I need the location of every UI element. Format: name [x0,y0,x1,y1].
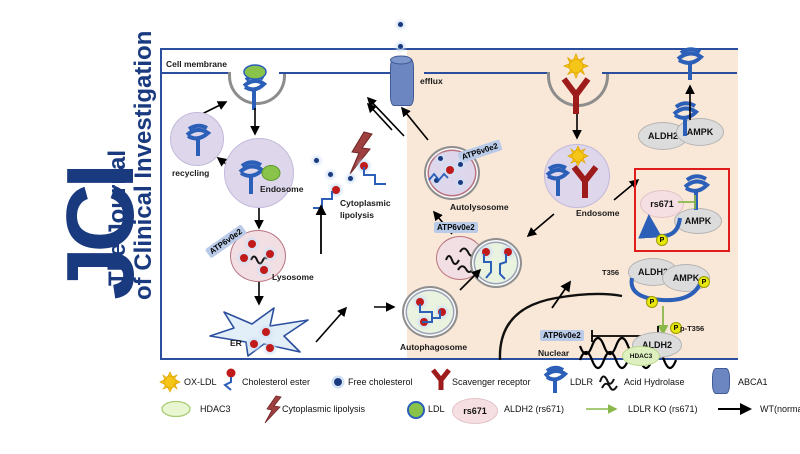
cholesterol-ester-dot [248,240,256,248]
arrow-lipolysis-upward [314,202,328,258]
arrow-scavenger-to-endosome [570,114,584,144]
phosphate-ampk-icon: P [698,276,710,288]
cytoplasmic-lipolysis-label-2: lipolysis [340,210,374,220]
cell-membrane-label: Cell membrane [166,59,227,69]
free-cholesterol-dot [314,158,319,163]
figure-root: JCI The Journal of Clinical Investigatio… [0,0,800,454]
recycling-label: recycling [172,168,209,178]
ldlr-membrane-right-icon [674,48,706,82]
free-cholesterol-dot [458,162,463,167]
cholesterol-tail-autolysosome-icon [428,170,450,184]
cholesterol-ester-dot [266,344,274,352]
cholesterol-ester-dot [262,328,270,336]
lipolysis-bolt-icon [264,396,282,424]
jci-title-line1: The Journal [104,150,132,286]
atp6v0e2-nuclear-label: ATP6v0e2 [540,330,584,341]
cholesterol-ester-dot [266,250,274,258]
legend-label-abca1: ABCA1 [738,377,768,387]
arrow-autophagosome-to-fusion [458,266,484,294]
cholesterol-ester-icon [222,368,240,394]
free-cholesterol-dot [328,172,333,177]
green-arrow-icon [586,404,624,414]
er-organelle [204,306,314,358]
abca1-icon [712,368,730,394]
arrow-er-to-cytoplasm [314,304,354,346]
arrow-autolysosome-to-abca1 [394,104,440,144]
efflux-label: efflux [420,76,443,86]
legend-label-scavenger-receptor: Scavenger receptor [452,377,531,387]
nuclear-label: Nuclear [538,348,569,358]
arrow-aldh2-to-membrane-ldlr [683,82,697,122]
cytoplasmic-lipolysis-label-1: Cytoplasmic [340,198,391,208]
arrow-cytoplasm-to-abca1 [348,100,396,134]
cholesterol-ester-tail-icon [362,166,388,190]
legend-label-ldlr: LDLR [570,377,593,387]
autophagosome-label: Autophagosome [400,342,467,352]
abca1-top-ellipse [390,55,412,65]
black-arrow-icon [718,404,758,414]
legend-label-acid-hydrolase: Acid Hydrolase [624,377,685,387]
cholesterol-tail-fused-icon [478,254,518,282]
cell-membrane-line-mid [279,72,401,74]
legend-label-aldh2-rs671: ALDH2 (rs671) [504,404,564,414]
free-cholesterol-dot [438,156,443,161]
legend-label-cytoplasmic-lipolysis: Cytoplasmic lipolysis [282,404,365,414]
jci-logo: JCI The Journal of Clinical Investigatio… [0,0,160,454]
cell-membrane-line-mid2 [424,72,549,74]
p-t356-label: p-T356 [680,324,704,333]
legend-label-oxldl: OX-LDL [184,377,217,387]
er-label: ER [230,338,242,348]
atp6v0e2-mid-label: ATP6v0e2 [434,222,478,233]
endosome-left-label: Endosome [260,184,303,194]
ldl-circle-icon [406,400,426,420]
cholesterol-ester-dot [260,266,268,274]
arrow-membrane-to-endosome [248,108,262,140]
oxldl-sun-endosome-icon [568,146,588,166]
ldlr-endosome-right-icon [544,164,572,198]
legend-label-ldlr-ko: LDLR KO (rs671) [628,404,698,414]
t356-label: T356 [602,268,619,277]
ldl-particle-left-icon [242,64,268,80]
arrow-nucleus-to-vesicle [548,278,576,312]
rs671-circle-icon: rs671 [452,398,498,424]
ldlr-icon [542,367,568,395]
scavenger-receptor-endosome-icon [570,162,600,200]
hdac3-ellipse-icon [160,400,192,418]
legend-label-free-cholesterol: Free cholesterol [348,377,413,387]
abca1-transporter [390,58,414,106]
acid-hydrolase-icon [598,370,622,390]
legend-label-cholesterol-ester: Cholesterol ester [242,377,310,387]
diagram-panel: Cell membrane recycling [160,48,738,360]
cholesterol-tail-autophagosome-icon [412,300,452,330]
legend-label-ldl: LDL [428,404,445,414]
arrow-autophagosome-to-efflux [374,300,400,314]
scavenger-receptor-membrane-icon [560,74,592,116]
autolysosome-label: Autolysosome [450,202,509,212]
oxldl-sun-icon [160,372,180,392]
ldl-endosome-left-icon [260,164,282,182]
free-cholesterol-efflux-dot [398,22,403,27]
endosome-right-label: Endosome [576,208,619,218]
cholesterol-ester-dot [250,340,258,348]
oxldl-sun-membrane-icon [564,54,588,78]
legend-label-wt-normal: WT(normal) [760,404,800,414]
lysosome-label: Lysosome [272,272,314,282]
cell-membrane-line-right [602,72,737,74]
cholesterol-ester-dot [240,254,248,262]
free-cholesterol-efflux-dot [398,44,403,49]
free-cholesterol-dot [348,176,353,181]
figure-legend: OX-LDL Cholesterol ester Free cholestero… [160,366,800,436]
free-cholesterol-dot [458,180,463,185]
free-cholesterol-dot-icon [332,376,344,388]
legend-label-hdac3: HDAC3 [200,404,231,414]
arrow-endosome-right-down [522,212,558,242]
phosphate-box-icon: P [656,234,668,246]
cell-membrane-line-left [162,72,230,74]
ldlr-recycling-icon [184,124,214,158]
hdac3-nuclear-protein: HDAC3 [622,346,660,366]
scavenger-receptor-icon [430,368,452,392]
jci-title-line2: of Clinical Investigation [130,31,158,300]
